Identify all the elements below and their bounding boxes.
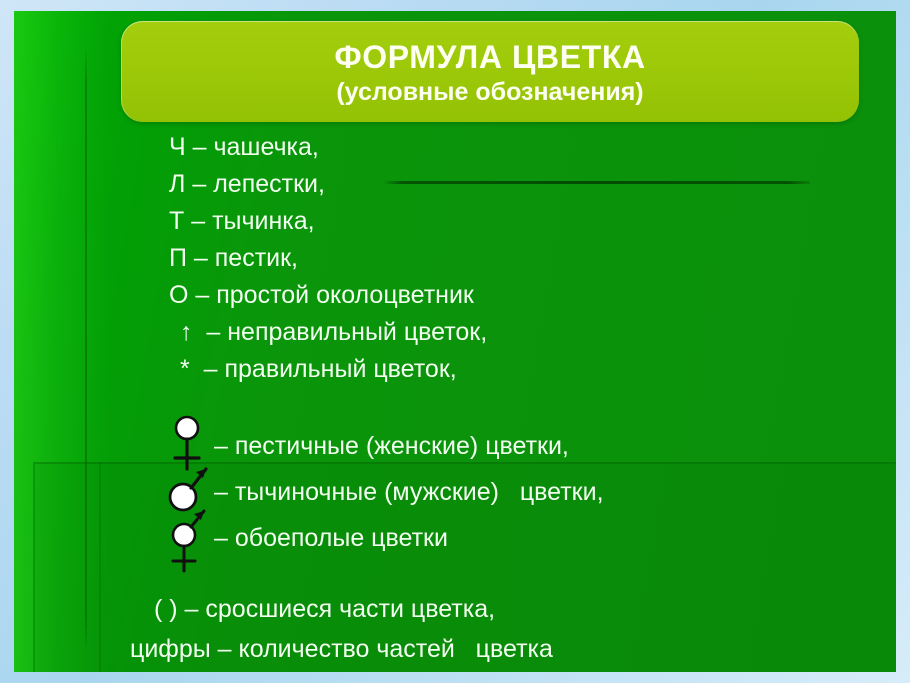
list-item: П – пестик, <box>14 240 896 277</box>
hermaphrodite-bisexual-symbol-icon <box>166 515 212 561</box>
page-subtitle: (условные обозначения) <box>336 79 643 107</box>
list-item: ( ) – сросшиеся части цветка, <box>14 589 896 629</box>
list-item: Л – лепестки, <box>14 166 896 203</box>
list-item: * – правильный цветок, <box>14 351 896 388</box>
symbol-label: – тычиночные (мужские) цветки, <box>214 478 604 507</box>
title-banner: ФОРМУЛА ЦВЕТКА (условные обозначения) <box>121 21 859 122</box>
notes-list: ( ) – сросшиеся части цветка, цифры – ко… <box>14 589 896 669</box>
list-item: – тычиночные (мужские) цветки, <box>14 469 896 515</box>
list-item: Ч – чашечка, <box>14 129 896 166</box>
symbol-label: – обоеполые цветки <box>214 524 448 553</box>
legend-list: Ч – чашечка, Л – лепестки, Т – тычинка, … <box>14 129 896 388</box>
slide-canvas: ФОРМУЛА ЦВЕТКА (условные обозначения) Ч … <box>14 11 896 672</box>
list-item: Т – тычинка, <box>14 203 896 240</box>
symbol-legend-list: – пестичные (женские) цветки, – тычиночн… <box>14 423 896 561</box>
slide-outer-frame: ФОРМУЛА ЦВЕТКА (условные обозначения) Ч … <box>0 0 910 683</box>
list-item: – пестичные (женские) цветки, <box>14 423 896 469</box>
list-item: О – простой околоцветник <box>14 277 896 314</box>
symbol-label: – пестичные (женские) цветки, <box>214 432 569 461</box>
list-item: цифры – количество частей цветка <box>14 629 896 669</box>
page-title: ФОРМУЛА ЦВЕТКА <box>334 41 645 75</box>
list-item: ↑ – неправильный цветок, <box>14 314 896 351</box>
list-item: – обоеполые цветки <box>14 515 896 561</box>
